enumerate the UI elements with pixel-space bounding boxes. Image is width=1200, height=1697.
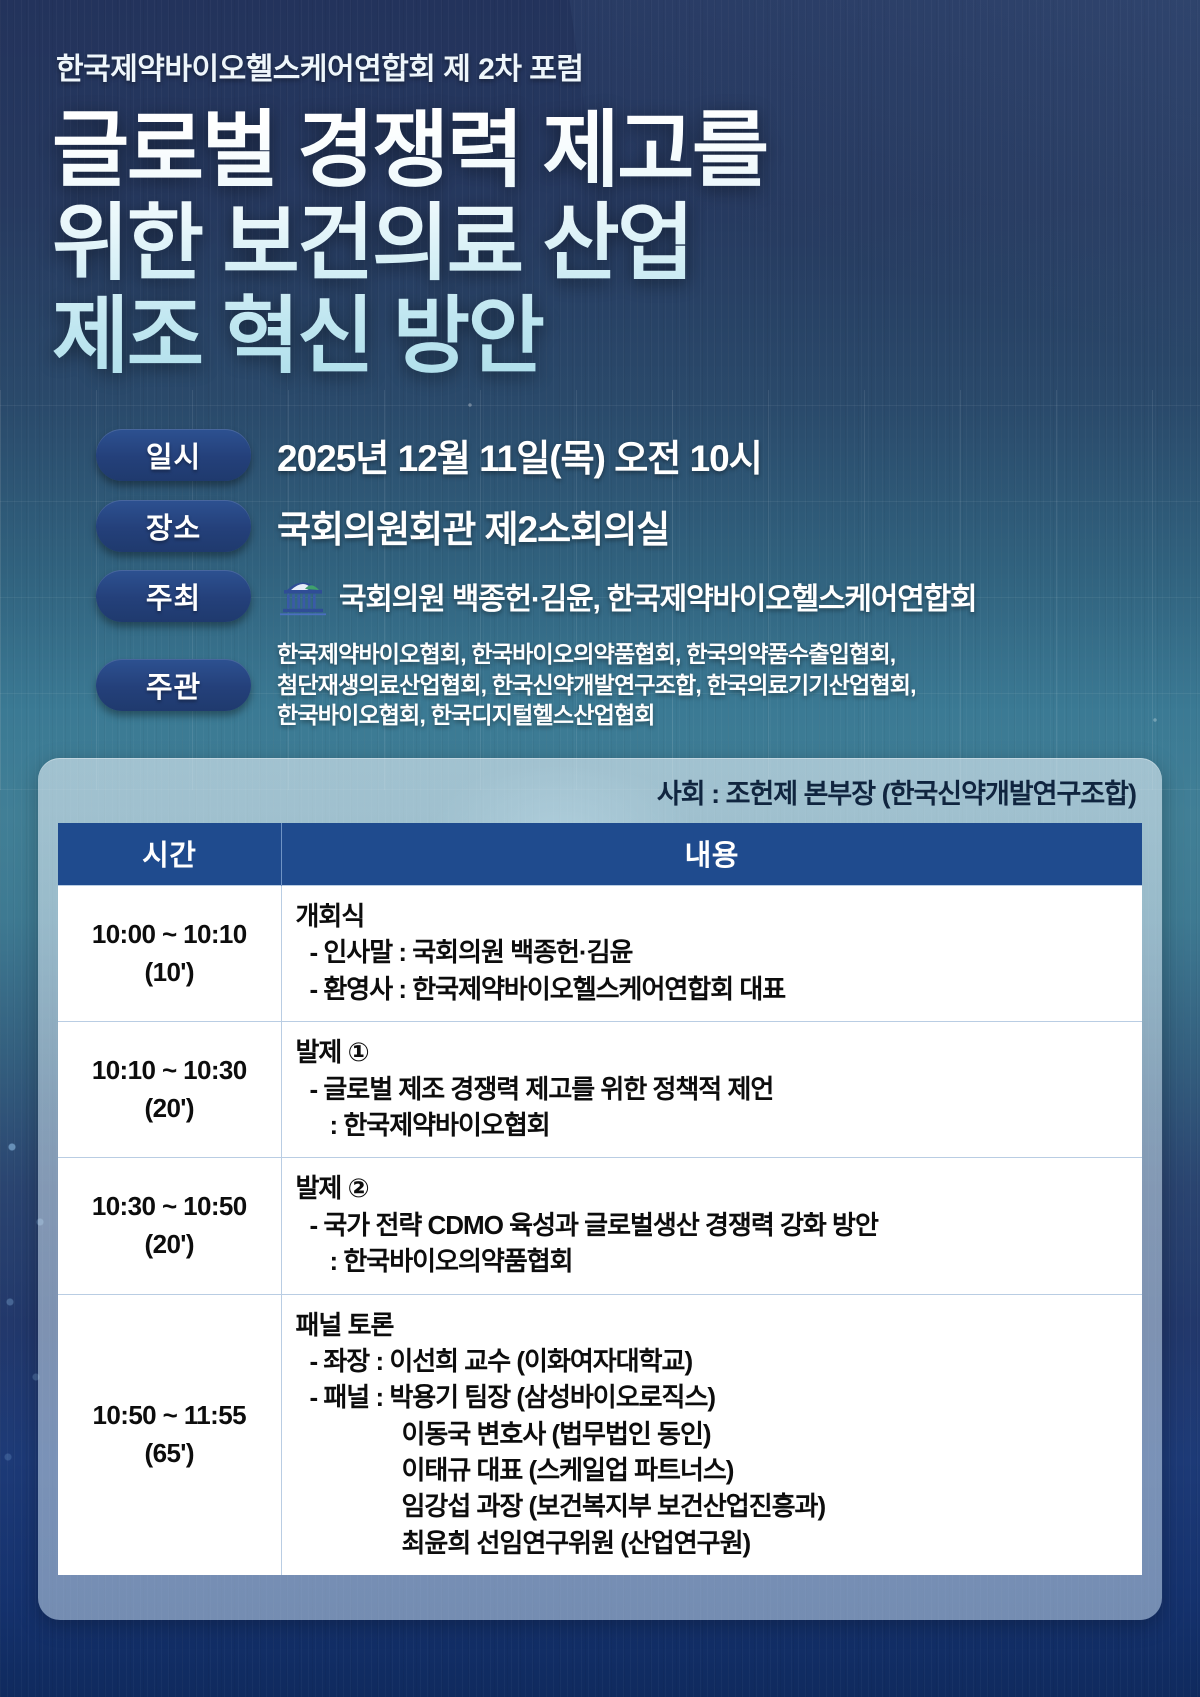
- badge-host: 주최: [96, 570, 251, 622]
- agenda-row-3-duration: (65'): [58, 1435, 281, 1473]
- page-title-line-3: 제조 혁신 방안: [52, 290, 1052, 383]
- agenda-row-0-line-0: - 인사말 : 국회의원 백종헌·김윤: [296, 934, 1143, 970]
- agenda-row-1-title: 발제 ①: [296, 1034, 1143, 1070]
- agenda-row-0-title: 개회식: [296, 898, 1143, 934]
- info-value-host: 국회의원 백종헌·김윤, 한국제약바이오헬스케어연합회: [339, 574, 976, 618]
- agenda-row-2-time-range: 10:30 ~ 10:50: [92, 1191, 247, 1221]
- agenda-row-3-content: 패널 토론 - 좌장 : 이선희 교수 (이화여자대학교) - 패널 : 박용기…: [281, 1294, 1142, 1575]
- agenda-row-1-duration: (20'): [58, 1090, 281, 1128]
- info-row-place: 장소 국회의원회관 제2소회의실: [96, 499, 1156, 553]
- page-title-line-2: 위한 보건의료 산업: [52, 197, 1052, 290]
- agenda-row-0-duration: (10'): [58, 954, 281, 992]
- agenda-row-1-line-0: - 글로벌 제조 경쟁력 제고를 위한 정책적 제언: [296, 1071, 1143, 1107]
- agenda-row-3-time-range: 10:50 ~ 11:55: [93, 1400, 246, 1430]
- agenda-row-3-line-2: 이동국 변호사 (법무법인 동인): [296, 1416, 1143, 1452]
- agenda-row-3-title: 패널 토론: [296, 1307, 1143, 1343]
- agenda-row-2-duration: (20'): [58, 1226, 281, 1264]
- agenda-row-3-line-1: - 패널 : 박용기 팀장 (삼성바이오로직스): [296, 1379, 1143, 1415]
- badge-organizer: 주관: [96, 659, 251, 711]
- page-title: 글로벌 경쟁력 제고를 위한 보건의료 산업 제조 혁신 방안: [52, 104, 1052, 384]
- agenda-row-0-line-1: - 환영사 : 한국제약바이오헬스케어연합회 대표: [296, 971, 1143, 1007]
- agenda-table: 시간 내용 10:00 ~ 10:10 (10') 개회식 - 인사말 : 국회…: [58, 823, 1142, 1575]
- badge-date: 일시: [96, 429, 251, 481]
- agenda-row-2-content: 발제 ② - 국가 전략 CDMO 육성과 글로벌생산 경쟁력 강화 방안 : …: [281, 1158, 1142, 1294]
- agenda-body: 10:00 ~ 10:10 (10') 개회식 - 인사말 : 국회의원 백종헌…: [58, 886, 1142, 1576]
- agenda-row-1-time-range: 10:10 ~ 10:30: [92, 1055, 247, 1085]
- info-row-host: 주최 국회의원 백종헌·김윤, 한국제약바이오헬스케어연합회: [96, 570, 1156, 622]
- agenda-col-content: 내용: [281, 823, 1142, 886]
- agenda-row-2-title: 발제 ②: [296, 1170, 1143, 1206]
- info-row-date: 일시 2025년 12월 11일(목) 오전 10시: [96, 428, 1156, 482]
- agenda-row-1-time: 10:10 ~ 10:30 (20'): [58, 1022, 281, 1158]
- badge-place: 장소: [96, 500, 251, 552]
- agenda-row-2-line-0: - 국가 전략 CDMO 육성과 글로벌생산 경쟁력 강화 방안: [296, 1207, 1143, 1243]
- agenda-row-3-time: 10:50 ~ 11:55 (65'): [58, 1294, 281, 1575]
- moderator-line: 사회 : 조헌제 본부장 (한국신약개발연구조합): [58, 772, 1142, 811]
- page-title-line-1: 글로벌 경쟁력 제고를: [52, 104, 1052, 197]
- organizer-line-2: 첨단재생의료산업협회, 한국신약개발연구조합, 한국의료기기산업협회,: [277, 670, 916, 701]
- table-row: 10:30 ~ 10:50 (20') 발제 ② - 국가 전략 CDMO 육성…: [58, 1158, 1142, 1294]
- info-value-host-wrap: 국회의원 백종헌·김윤, 한국제약바이오헬스케어연합회: [277, 574, 976, 618]
- info-value-organizer: 한국제약바이오협회, 한국바이오의약품협회, 한국의약품수출입협회, 첨단재생의…: [277, 639, 916, 731]
- forum-kicker: 한국제약바이오헬스케어연합회 제 2차 포럼: [56, 44, 584, 88]
- agenda-card: 사회 : 조헌제 본부장 (한국신약개발연구조합) 시간 내용 10:00 ~ …: [38, 758, 1162, 1620]
- agenda-row-2-time: 10:30 ~ 10:50 (20'): [58, 1158, 281, 1294]
- event-info-list: 일시 2025년 12월 11일(목) 오전 10시 장소 국회의원회관 제2소…: [96, 428, 1156, 748]
- agenda-header-row: 시간 내용: [58, 823, 1142, 886]
- poster-canvas: 한국제약바이오헬스케어연합회 제 2차 포럼 글로벌 경쟁력 제고를 위한 보건…: [0, 0, 1200, 1697]
- info-value-place: 국회의원회관 제2소회의실: [277, 499, 669, 553]
- table-row: 10:10 ~ 10:30 (20') 발제 ① - 글로벌 제조 경쟁력 제고…: [58, 1022, 1142, 1158]
- organizer-line-3: 한국바이오협회, 한국디지털헬스산업협회: [277, 700, 916, 731]
- agenda-row-0-content: 개회식 - 인사말 : 국회의원 백종헌·김윤 - 환영사 : 한국제약바이오헬…: [281, 886, 1142, 1022]
- agenda-row-3-line-0: - 좌장 : 이선희 교수 (이화여자대학교): [296, 1343, 1143, 1379]
- info-row-organizer: 주관 한국제약바이오협회, 한국바이오의약품협회, 한국의약품수출입협회, 첨단…: [96, 639, 1156, 731]
- agenda-row-1-line-1: : 한국제약바이오협회: [296, 1107, 1143, 1143]
- table-row: 10:00 ~ 10:10 (10') 개회식 - 인사말 : 국회의원 백종헌…: [58, 886, 1142, 1022]
- national-assembly-emblem-icon: [277, 576, 329, 616]
- agenda-row-0-time-range: 10:00 ~ 10:10: [92, 919, 247, 949]
- agenda-row-0-time: 10:00 ~ 10:10 (10'): [58, 886, 281, 1022]
- table-row: 10:50 ~ 11:55 (65') 패널 토론 - 좌장 : 이선희 교수 …: [58, 1294, 1142, 1575]
- agenda-col-time: 시간: [58, 823, 281, 886]
- agenda-row-2-line-1: : 한국바이오의약품협회: [296, 1243, 1143, 1279]
- info-value-date: 2025년 12월 11일(목) 오전 10시: [277, 428, 762, 482]
- organizer-line-1: 한국제약바이오협회, 한국바이오의약품협회, 한국의약품수출입협회,: [277, 639, 916, 670]
- agenda-row-3-line-4: 임강섭 과장 (보건복지부 보건산업진흥과): [296, 1488, 1143, 1524]
- agenda-row-3-line-3: 이태규 대표 (스케일업 파트너스): [296, 1452, 1143, 1488]
- agenda-row-1-content: 발제 ① - 글로벌 제조 경쟁력 제고를 위한 정책적 제언 : 한국제약바이…: [281, 1022, 1142, 1158]
- agenda-row-3-line-5: 최윤희 선임연구위원 (산업연구원): [296, 1525, 1143, 1561]
